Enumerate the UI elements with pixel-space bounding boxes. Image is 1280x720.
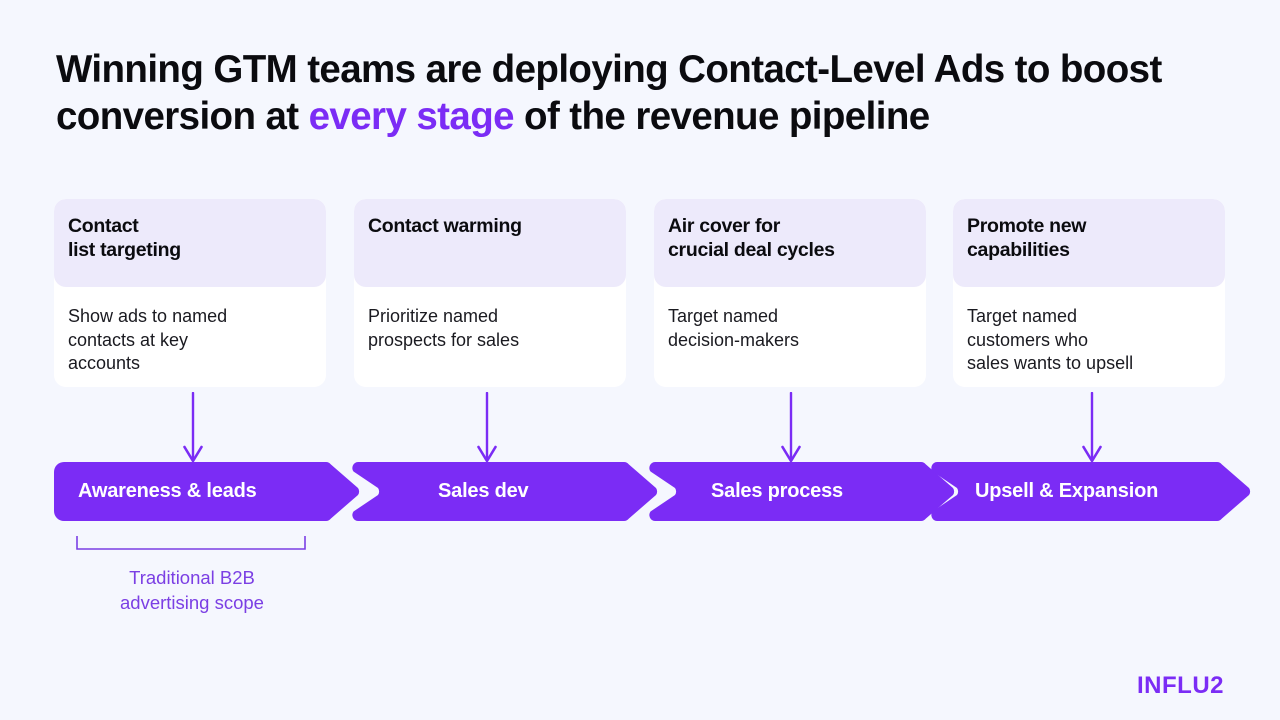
down-arrow-icon-2	[475, 392, 499, 464]
stage-card-2: Contact warming Prioritize named prospec…	[354, 199, 626, 387]
scope-caption: Traditional B2B advertising scope	[54, 565, 330, 615]
stage-card-4: Promote new capabilities Target named cu…	[953, 199, 1225, 387]
stage-card-2-header: Contact warming	[354, 199, 626, 287]
pipeline-stage-3-label: Sales process	[649, 462, 843, 521]
pipeline-stage-sales-dev[interactable]: Sales dev	[352, 462, 658, 521]
pipeline-stage-1-label: Awareness & leads	[54, 462, 257, 521]
stage-card-1: Contact list targeting Show ads to named…	[54, 199, 326, 387]
influ2-logo: INFLU2	[1137, 672, 1224, 700]
stage-card-1-header: Contact list targeting	[54, 199, 326, 287]
stage-card-1-title: Contact list targeting	[68, 214, 312, 262]
down-arrow-icon-1	[181, 392, 205, 464]
stage-card-3-title: Air cover for crucial deal cycles	[668, 214, 912, 262]
pipeline-stage-upsell-expansion[interactable]: Upsell & Expansion	[931, 462, 1251, 521]
stage-card-4-title: Promote new capabilities	[967, 214, 1211, 262]
stage-card-3-text: Target named decision-makers	[668, 305, 912, 352]
stage-card-1-text: Show ads to named contacts at key accoun…	[68, 305, 312, 376]
stage-card-3-body: Target named decision-makers	[654, 287, 926, 387]
title-highlight: every stage	[309, 95, 514, 138]
pipeline-stage-4-label: Upsell & Expansion	[931, 462, 1158, 521]
pipeline-stage-awareness-leads[interactable]: Awareness & leads	[54, 462, 360, 521]
pipeline-stage-2-label: Sales dev	[352, 462, 529, 521]
stage-card-2-title: Contact warming	[368, 214, 612, 238]
stage-card-2-body: Prioritize named prospects for sales	[354, 287, 626, 387]
down-arrow-icon-4	[1080, 392, 1104, 464]
stage-card-4-body: Target named customers who sales wants t…	[953, 287, 1225, 387]
stage-card-4-text: Target named customers who sales wants t…	[967, 305, 1211, 376]
stage-card-4-header: Promote new capabilities	[953, 199, 1225, 287]
down-arrow-icon-3	[779, 392, 803, 464]
stage-card-1-body: Show ads to named contacts at key accoun…	[54, 287, 326, 387]
infographic-canvas: Winning GTM teams are deploying Contact-…	[0, 0, 1280, 720]
scope-bracket	[76, 536, 306, 550]
stage-card-3: Air cover for crucial deal cycles Target…	[654, 199, 926, 387]
pipeline-stage-sales-process[interactable]: Sales process	[649, 462, 955, 521]
stage-card-2-text: Prioritize named prospects for sales	[368, 305, 612, 352]
title-part-2: of the revenue pipeline	[514, 95, 930, 138]
page-title: Winning GTM teams are deploying Contact-…	[56, 46, 1236, 140]
stage-card-3-header: Air cover for crucial deal cycles	[654, 199, 926, 287]
